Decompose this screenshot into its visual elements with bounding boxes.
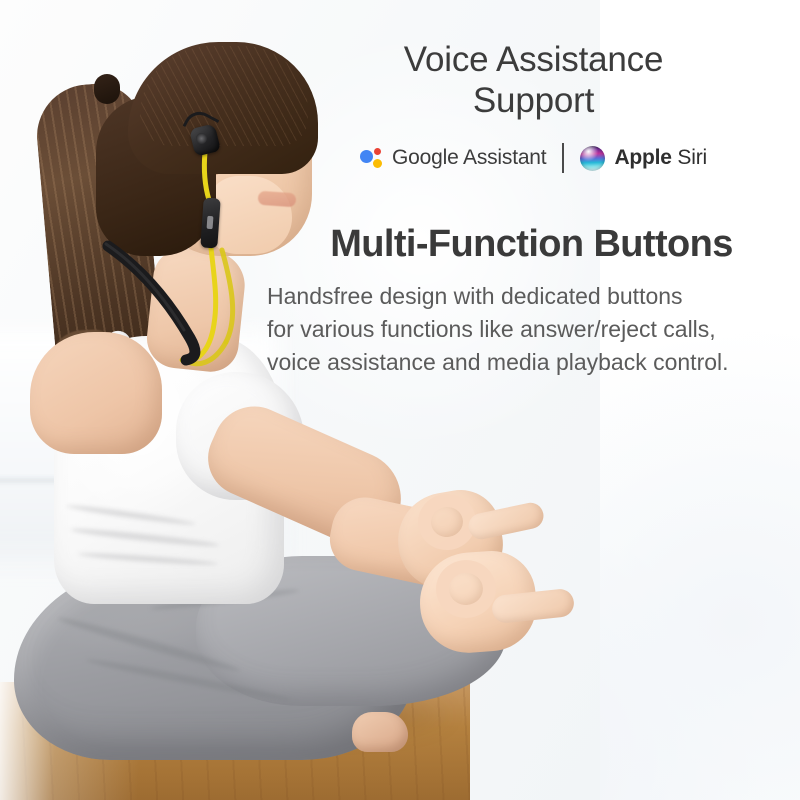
google-yellow-dot: [373, 159, 382, 168]
feature-heading: Multi-Function Buttons: [255, 223, 792, 266]
siri-word: Siri: [677, 146, 707, 169]
apple-siri-label: Apple Siri: [614, 146, 707, 170]
heading-line-1: Voice Assistance: [325, 40, 742, 81]
remote-button: [207, 216, 214, 229]
hair-tie: [94, 74, 120, 104]
heading-line-2: Support: [325, 81, 742, 122]
logo-divider: [562, 143, 564, 173]
description-line-1: Handsfree design with dedicated buttons: [267, 280, 787, 313]
text-content-column: Voice Assistance Support Google Assistan…: [255, 0, 800, 800]
google-red-dot: [374, 148, 381, 155]
product-feature-banner: Voice Assistance Support Google Assistan…: [0, 0, 800, 800]
feature-description: Handsfree design with dedicated buttons …: [255, 280, 792, 379]
earbud-grill-icon: [196, 133, 207, 144]
google-blue-dot: [360, 150, 373, 163]
description-line-2: for various functions like answer/reject…: [267, 313, 787, 346]
google-assistant-dots-icon: [360, 147, 383, 170]
apple-word: Apple: [614, 146, 671, 169]
google-assistant-label: Google Assistant: [392, 146, 546, 170]
voice-assistance-heading: Voice Assistance Support: [255, 40, 792, 121]
siri-orb-icon: [580, 146, 605, 171]
assistant-logos-row: Google Assistant Apple Siri: [255, 143, 792, 173]
description-line-3: voice assistance and media playback cont…: [267, 346, 787, 379]
neck: [144, 246, 248, 375]
google-assistant-badge: Google Assistant: [360, 146, 546, 170]
shoulder: [30, 332, 162, 454]
apple-siri-badge: Apple Siri: [580, 146, 707, 171]
